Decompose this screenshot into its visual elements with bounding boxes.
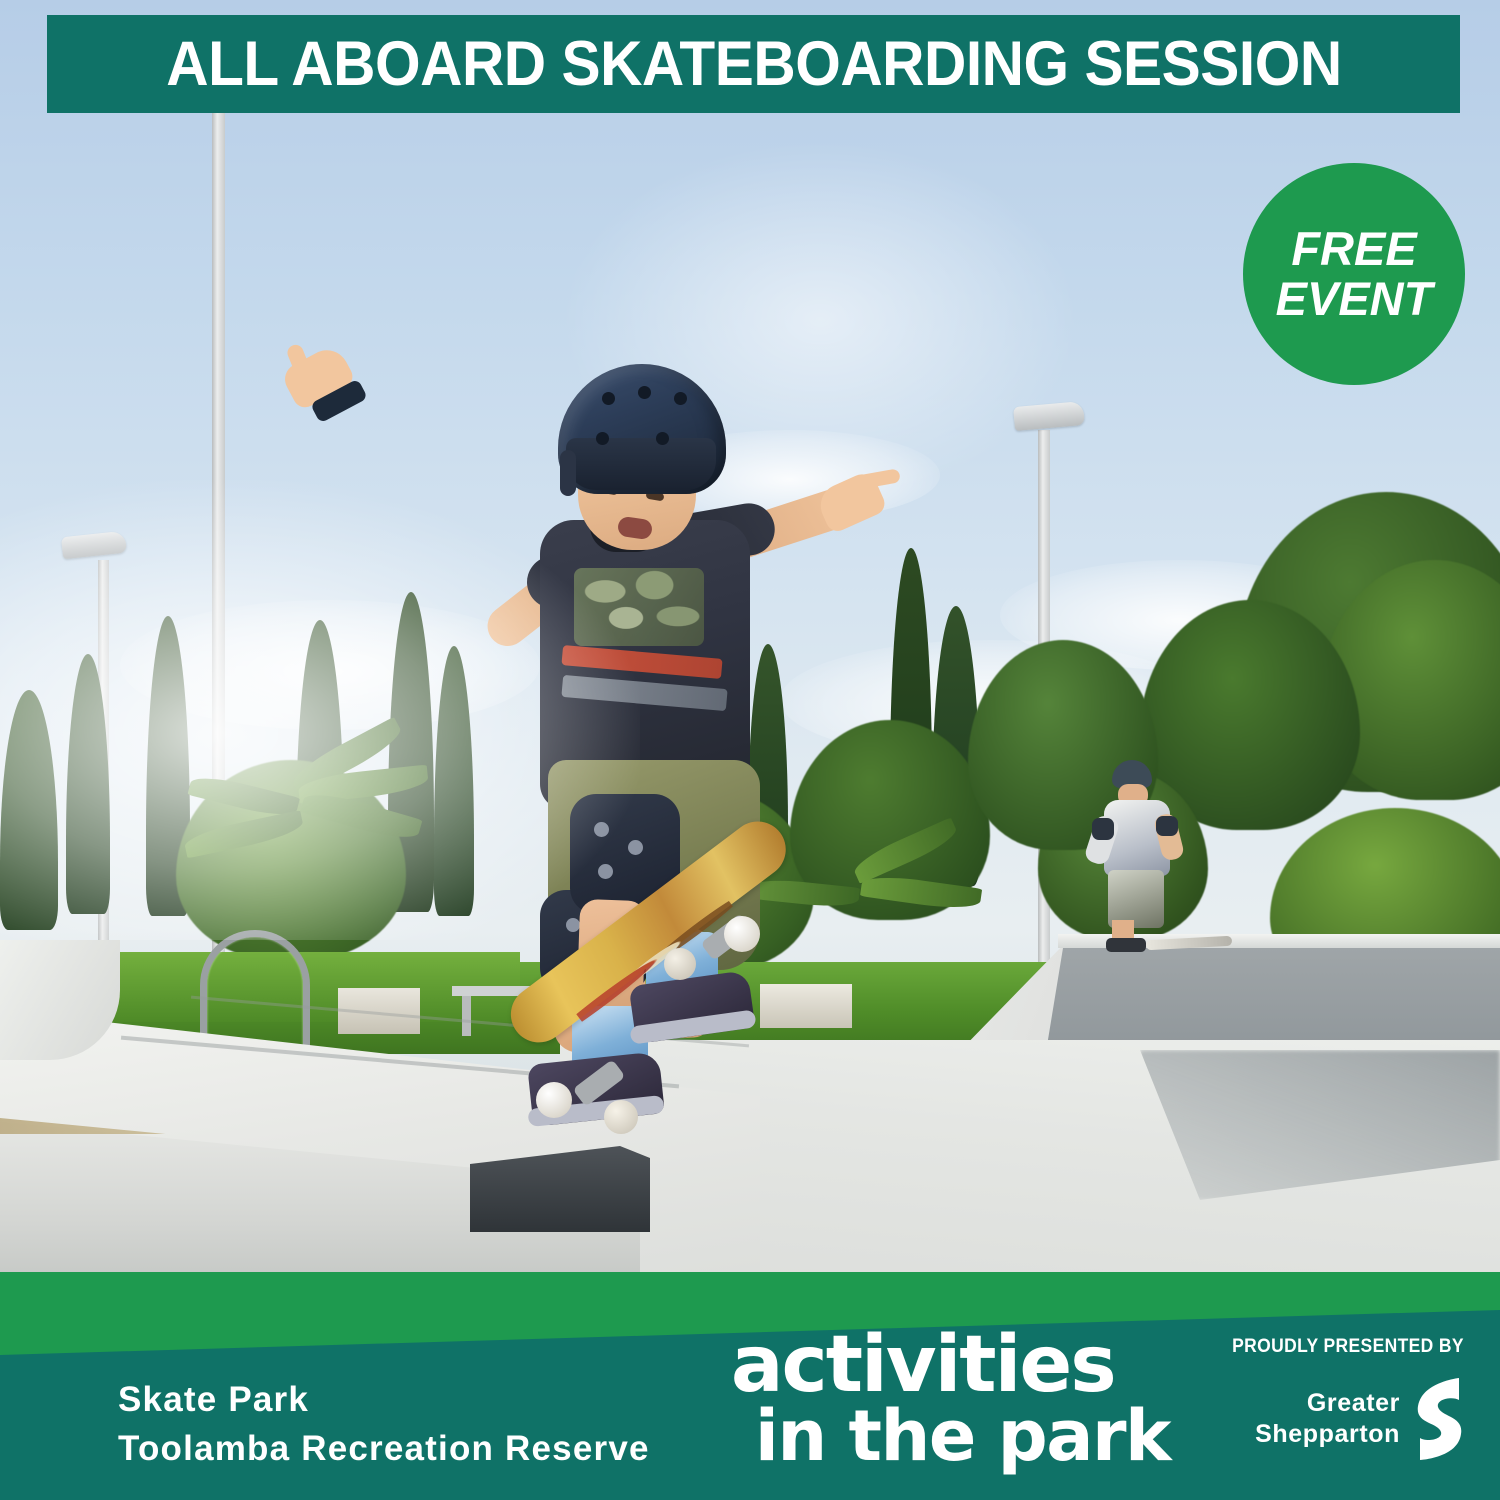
helmet-vent	[674, 392, 687, 405]
helmet-vent	[656, 432, 669, 445]
helmet-brim	[566, 438, 716, 490]
skateboard-wheel	[664, 948, 696, 980]
background-skater	[1090, 760, 1210, 950]
footer: Skate Park Toolamba Recreation Reserve a…	[0, 1272, 1500, 1500]
cypress-tree	[0, 690, 58, 930]
foreground-skater	[470, 330, 900, 1210]
badge-line-2: EVENT	[1276, 275, 1433, 323]
presenter-name-line-1: Greater	[1255, 1388, 1400, 1420]
logo-line-2: in the park	[731, 1403, 1170, 1470]
badge-line-1: FREE	[1291, 225, 1416, 273]
greater-shepparton-wordmark: Greater Shepparton	[1255, 1388, 1400, 1451]
event-poster: ALL ABOARD SKATEBOARDING SESSION FREE EV…	[0, 0, 1500, 1500]
activities-in-the-park-logo: activities in the park	[731, 1328, 1170, 1470]
presenter-block: PROUDLY PRESENTED BY Greater Shepparton	[1212, 1336, 1464, 1470]
knee-pad-rivet	[598, 864, 613, 879]
skateboard-wheel	[604, 1100, 638, 1134]
helmet-vent	[596, 432, 609, 445]
tree-canopy	[176, 760, 406, 960]
helmet-strap	[560, 450, 576, 496]
bg-skater-shoe	[1106, 938, 1146, 952]
venue-line-2: Toolamba Recreation Reserve	[118, 1424, 650, 1474]
knee-pad-rivet	[594, 822, 609, 837]
presented-by-label: PROUDLY PRESENTED BY	[1232, 1336, 1464, 1358]
skateboard-wheel	[724, 916, 760, 952]
palm-frond	[297, 765, 429, 804]
light-pole	[1038, 430, 1050, 990]
skateboard-wheel	[536, 1082, 572, 1118]
venue-line-1: Skate Park	[118, 1375, 650, 1425]
free-event-badge: FREE EVENT	[1243, 163, 1465, 385]
palm-frond	[183, 810, 305, 858]
knee-pad-rivet	[566, 918, 580, 932]
hero-photo	[0, 0, 1500, 1290]
helmet-vent	[602, 392, 615, 405]
knee-pad-rivet	[628, 840, 643, 855]
light-pole	[212, 110, 225, 1010]
bg-skater-elbow-pad	[1092, 818, 1114, 840]
lamp-head-icon	[61, 531, 127, 560]
helmet-vent	[638, 386, 651, 399]
page-title: ALL ABOARD SKATEBOARDING SESSION	[166, 33, 1341, 96]
venue-block: Skate Park Toolamba Recreation Reserve	[118, 1375, 650, 1474]
tshirt-camo-graphic	[574, 568, 704, 646]
palm-frond	[187, 771, 300, 821]
header-banner: ALL ABOARD SKATEBOARDING SESSION	[47, 15, 1460, 113]
skate-rail-arch	[200, 930, 310, 1048]
logo-line-1: activities	[731, 1328, 1170, 1403]
shepparton-swoosh-icon	[1412, 1376, 1464, 1462]
presenter-name-line-2: Shepparton	[1255, 1419, 1400, 1451]
palm-frond	[300, 787, 423, 845]
bg-skater-elbow-pad	[1156, 816, 1178, 836]
